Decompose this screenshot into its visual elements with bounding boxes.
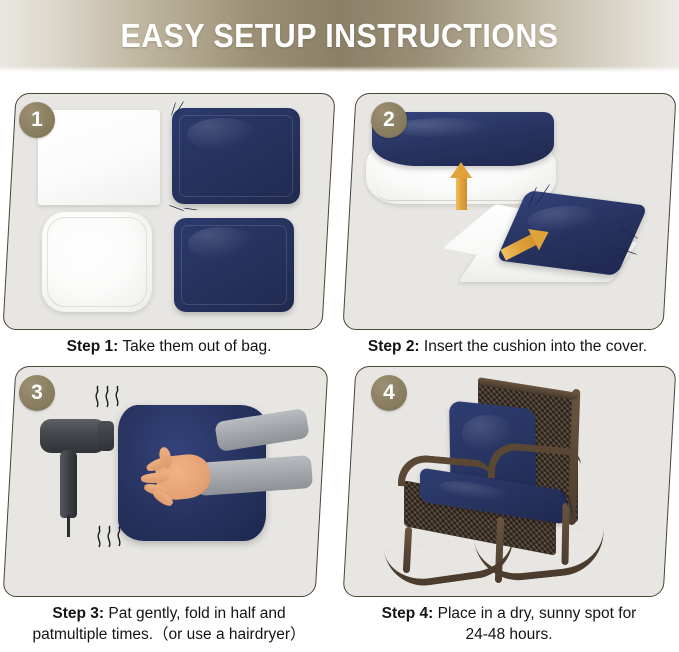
white-pillow-insert	[42, 212, 152, 312]
navy-back-cover	[172, 108, 300, 204]
step-3-caption-text-1: Pat gently, fold in half and	[104, 605, 286, 622]
hairdryer-barrel	[40, 419, 106, 453]
gray-sleeve	[195, 455, 313, 496]
header-banner: EASY SETUP INSTRUCTIONS	[0, 0, 679, 72]
step-badge-3: 3	[19, 375, 55, 411]
step-1-caption-bold: Step 1:	[67, 338, 119, 355]
step-1-caption: Step 1: Take them out of bag.	[8, 337, 330, 358]
arrow-head	[450, 162, 472, 178]
step-3-caption-bold: Step 3:	[52, 605, 104, 622]
step-4-caption-bold: Step 4:	[382, 605, 434, 622]
page-title: EASY SETUP INSTRUCTIONS	[27, 0, 652, 72]
step-2-caption-bold: Step 2:	[368, 338, 420, 355]
hairdryer-cord	[67, 515, 70, 537]
cover-tie-string	[183, 208, 197, 211]
navy-seat-cover	[174, 218, 294, 312]
step-panel-2: 2	[349, 93, 670, 330]
step-3-caption-line-1: Step 3: Pat gently, fold in half and	[6, 604, 332, 625]
step-badge-4: 4	[371, 375, 407, 411]
rocking-chair	[392, 383, 622, 589]
air-wave-marks	[92, 385, 126, 409]
step-badge-2: 2	[371, 102, 407, 138]
step-1-caption-text: Take them out of bag.	[118, 338, 271, 355]
step-2-caption: Step 2: Insert the cushion into the cove…	[340, 337, 675, 358]
hairdryer	[36, 415, 126, 535]
step-4-caption-text-1: Place in a dry, sunny spot for	[433, 605, 636, 622]
panel-3-illustration	[10, 367, 321, 596]
cover-highlight	[187, 118, 257, 152]
step-2-caption-text: Insert the cushion into the cover.	[420, 338, 647, 355]
step-3-caption: Step 3: Pat gently, fold in half and pat…	[6, 604, 332, 646]
gold-arrow-up	[450, 162, 472, 210]
step-4-caption-line-1: Step 4: Place in a dry, sunny spot for	[344, 604, 674, 625]
step-4-caption-line-2: 24-48 hours.	[344, 625, 674, 646]
step-4-caption: Step 4: Place in a dry, sunny spot for 2…	[344, 604, 674, 646]
white-foam-pad	[38, 110, 160, 205]
cover-tie-string	[169, 205, 184, 211]
hairdryer-handle	[60, 450, 77, 518]
step-panel-1: 1	[9, 93, 329, 330]
hairdryer-nozzle	[98, 421, 114, 451]
step-panel-4: 4	[349, 366, 670, 597]
step-badge-1: 1	[19, 102, 55, 138]
step-3-caption-line-2: patmultiple times.（or use a hairdryer）	[6, 625, 332, 646]
cover-highlight	[394, 118, 490, 138]
panel-1-illustration	[10, 94, 328, 329]
cover-highlight	[188, 227, 254, 260]
arrow-shaft	[456, 176, 467, 210]
step-panel-3: 3	[9, 366, 322, 597]
